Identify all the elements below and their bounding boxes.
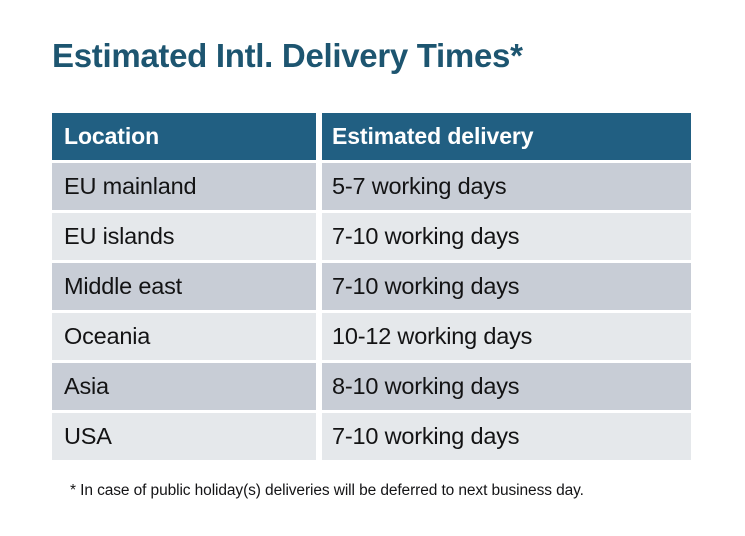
- column-header-location: Location: [52, 113, 316, 160]
- page-title: Estimated Intl. Delivery Times*: [52, 37, 523, 75]
- table-row: USA 7-10 working days: [52, 413, 691, 460]
- cell-location: Asia: [52, 363, 316, 410]
- table-row: EU mainland 5-7 working days: [52, 163, 691, 210]
- cell-location: EU islands: [52, 213, 316, 260]
- footnote-text: * In case of public holiday(s) deliverie…: [70, 482, 584, 500]
- cell-estimated-delivery: 10-12 working days: [322, 313, 691, 360]
- table-row: Asia 8-10 working days: [52, 363, 691, 410]
- delivery-times-table: Location Estimated delivery EU mainland …: [52, 113, 691, 460]
- cell-estimated-delivery: 8-10 working days: [322, 363, 691, 410]
- cell-location: EU mainland: [52, 163, 316, 210]
- cell-location: Middle east: [52, 263, 316, 310]
- cell-estimated-delivery: 5-7 working days: [322, 163, 691, 210]
- cell-estimated-delivery: 7-10 working days: [322, 263, 691, 310]
- delivery-times-page: Estimated Intl. Delivery Times* Location…: [0, 0, 745, 536]
- table-row: Middle east 7-10 working days: [52, 263, 691, 310]
- cell-estimated-delivery: 7-10 working days: [322, 413, 691, 460]
- table-header-row: Location Estimated delivery: [52, 113, 691, 160]
- cell-location: USA: [52, 413, 316, 460]
- cell-location: Oceania: [52, 313, 316, 360]
- table-row: EU islands 7-10 working days: [52, 213, 691, 260]
- table-row: Oceania 10-12 working days: [52, 313, 691, 360]
- column-header-estimated-delivery: Estimated delivery: [322, 113, 691, 160]
- cell-estimated-delivery: 7-10 working days: [322, 213, 691, 260]
